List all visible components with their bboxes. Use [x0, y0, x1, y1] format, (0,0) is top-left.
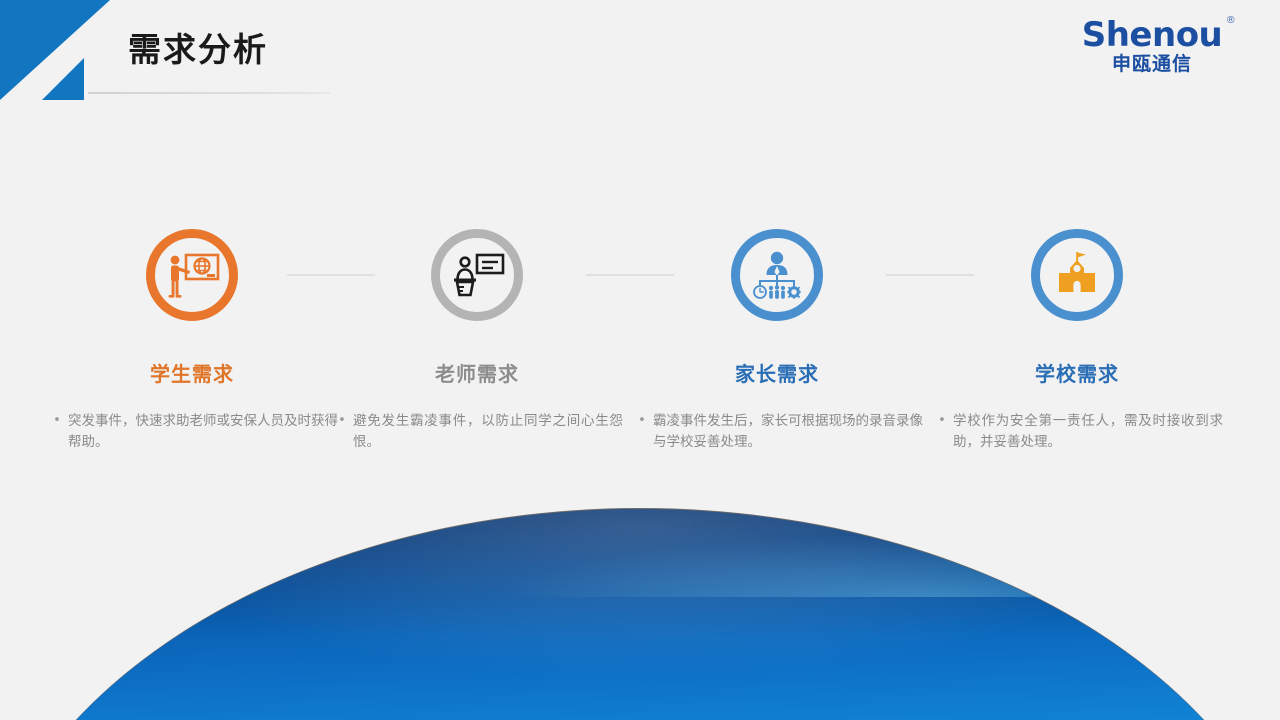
bullet-body-text: 避免发生霸凌事件，以防止同学之间心生怨恨。 — [353, 411, 623, 453]
org-chart-person-icon — [748, 250, 806, 300]
bullet-marker: • — [631, 411, 653, 453]
bullet-parent-needs: • 霸凌事件发生后，家长可根据现场的录音录像与学校妥善处理。 — [627, 411, 927, 453]
icon-ring-parent — [731, 229, 823, 321]
bullet-marker: • — [931, 411, 953, 453]
bottom-decoration — [0, 490, 1280, 720]
title-underline — [88, 92, 330, 94]
heading-student-needs: 学生需求 — [42, 358, 342, 387]
icon-circle-row — [42, 200, 342, 350]
column-teacher-needs[interactable]: 老师需求 • 避免发生霸凌事件，以防止同学之间心生怨恨。 — [327, 200, 627, 453]
column-parent-needs[interactable]: 家长需求 • 霸凌事件发生后，家长可根据现场的录音录像与学校妥善处理。 — [627, 200, 927, 453]
logo-chinese-name: 申瓯通信 — [1052, 55, 1252, 74]
needs-columns: 学生需求 • 突发事件，快速求助老师或安保人员及时获得帮助。 — [0, 200, 1280, 480]
bullet-student-needs: • 突发事件，快速求助老师或安保人员及时获得帮助。 — [42, 411, 342, 453]
dome-highlight — [0, 508, 1280, 597]
school-building-icon — [1050, 251, 1104, 299]
company-logo: Shenou ® 申瓯通信 — [1052, 18, 1252, 74]
logo-wordmark-text: Shenou — [1082, 15, 1223, 55]
icon-ring-student — [146, 229, 238, 321]
podium-presentation-icon — [449, 251, 505, 299]
page-title: 需求分析 — [128, 32, 268, 68]
corner-decoration — [0, 0, 120, 105]
icon-circle-row — [627, 200, 927, 350]
bullet-marker: • — [331, 411, 353, 453]
heading-school-needs: 学校需求 — [927, 358, 1227, 387]
bullet-body-text: 学校作为安全第一责任人，需及时接收到求助，并妥善处理。 — [953, 411, 1223, 453]
bullet-teacher-needs: • 避免发生霸凌事件，以防止同学之间心生怨恨。 — [327, 411, 627, 453]
teacher-whiteboard-icon — [163, 250, 221, 300]
tech-dome-graphic — [0, 508, 1280, 720]
bullet-marker: • — [46, 411, 68, 453]
heading-parent-needs: 家长需求 — [627, 358, 927, 387]
dome-shading — [0, 509, 1280, 720]
icon-ring-school — [1031, 229, 1123, 321]
heading-teacher-needs: 老师需求 — [327, 358, 627, 387]
bullet-body-text: 突发事件，快速求助老师或安保人员及时获得帮助。 — [68, 411, 338, 453]
circuit-pattern-icon — [0, 509, 1280, 720]
icon-circle-row — [927, 200, 1227, 350]
bullet-school-needs: • 学校作为安全第一责任人，需及时接收到求助，并妥善处理。 — [927, 411, 1227, 453]
logo-wordmark: Shenou ® — [1082, 18, 1223, 52]
corner-triangle-small — [42, 58, 84, 100]
column-school-needs[interactable]: 学校需求 • 学校作为安全第一责任人，需及时接收到求助，并妥善处理。 — [927, 200, 1227, 453]
column-student-needs[interactable]: 学生需求 • 突发事件，快速求助老师或安保人员及时获得帮助。 — [42, 200, 342, 453]
icon-circle-row — [327, 200, 627, 350]
bullet-body-text: 霸凌事件发生后，家长可根据现场的录音录像与学校妥善处理。 — [653, 411, 923, 453]
registered-trademark-icon: ® — [1226, 16, 1236, 26]
icon-ring-teacher — [431, 229, 523, 321]
